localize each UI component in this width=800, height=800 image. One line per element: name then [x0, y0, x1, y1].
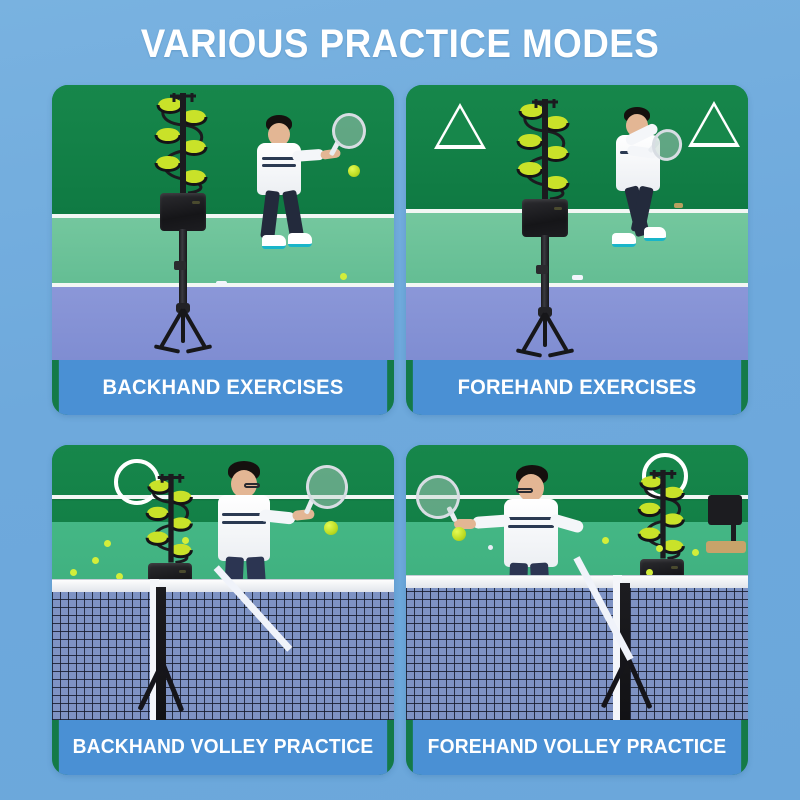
tripod-leg [543, 313, 547, 347]
tripod-foot [186, 344, 212, 353]
pole-clamp [174, 261, 186, 270]
tripod-leg [181, 308, 206, 348]
racket-head [332, 113, 366, 149]
spare-machine-body [708, 495, 742, 525]
practice-modes-grid: BACKHAND EXERCISES [52, 85, 748, 775]
player-shoe [644, 227, 666, 241]
shirt-stripe [262, 157, 296, 160]
shirt-stripe [508, 517, 554, 520]
loose-ball [182, 537, 189, 544]
loose-ball [104, 540, 111, 547]
tripod-leg [543, 312, 568, 352]
loose-ball [692, 549, 699, 556]
scene-photo-backhand-exercises [52, 85, 394, 360]
court-marker [488, 545, 493, 550]
tennis-ball [348, 165, 360, 177]
page-title: VARIOUS PRACTICE MODES [32, 22, 768, 66]
player-leg [260, 190, 280, 239]
player-backhand [248, 115, 368, 255]
loose-ball [92, 557, 99, 564]
tennis-ball [452, 527, 466, 541]
practice-mode-card[interactable]: BACKHAND EXERCISES [52, 85, 394, 415]
loose-ball [602, 537, 609, 544]
ball-machine [148, 93, 218, 353]
shirt-stripe [222, 521, 266, 524]
spiral-ball-feeder-icon [632, 469, 694, 563]
spiral-ball-feeder-icon [140, 473, 202, 567]
player-forehand [604, 107, 724, 252]
court-equipment [706, 541, 746, 553]
card-caption: FOREHAND VOLLEY PRACTICE [413, 720, 741, 775]
blue-court [52, 287, 394, 360]
player-shoe [288, 233, 312, 247]
practice-mode-card[interactable]: FOREHAND VOLLEY PRACTICE [406, 445, 748, 775]
promo-page: VARIOUS PRACTICE MODES [0, 0, 800, 800]
player-shoe [612, 233, 636, 247]
spiral-ball-feeder-icon [510, 99, 580, 203]
ball-machine [510, 99, 580, 357]
player-glasses [516, 488, 533, 493]
court-marker [572, 275, 583, 280]
machine-body [522, 199, 568, 237]
court-marker [216, 281, 227, 286]
scene-photo-forehand-exercises [406, 85, 748, 360]
loose-ball [340, 273, 347, 280]
spiral-ball-feeder-icon [148, 93, 218, 197]
practice-mode-card[interactable]: FOREHAND EXERCISES [406, 85, 748, 415]
tripod-foot [154, 344, 180, 353]
card-caption: BACKHAND VOLLEY PRACTICE [59, 720, 387, 775]
shirt-stripe [508, 525, 554, 528]
tennis-ball [324, 521, 338, 535]
loose-ball [656, 545, 663, 552]
net-mesh [52, 592, 394, 720]
machine-body [160, 193, 206, 231]
tripod-pole-behind-net [156, 587, 166, 720]
tripod-foot [516, 348, 542, 357]
court-debris [674, 203, 683, 208]
player-torso [504, 499, 558, 567]
scene-photo-forehand-volley [406, 445, 748, 720]
player-glasses [244, 483, 260, 488]
pole-clamp [536, 265, 548, 274]
shirt-stripe [262, 164, 296, 167]
player-shoe [262, 235, 286, 249]
wall-triangle-icon [434, 103, 486, 149]
practice-mode-card[interactable]: BACKHAND VOLLEY PRACTICE [52, 445, 394, 775]
scene-photo-backhand-volley [52, 445, 394, 720]
net-mesh [406, 588, 748, 720]
net-band [406, 575, 748, 589]
tripod-leg [181, 309, 185, 343]
loose-ball [70, 569, 77, 576]
player-torso [218, 495, 270, 561]
tripod-foot [548, 348, 574, 357]
card-caption: BACKHAND EXERCISES [59, 360, 387, 415]
card-caption: FOREHAND EXERCISES [413, 360, 741, 415]
